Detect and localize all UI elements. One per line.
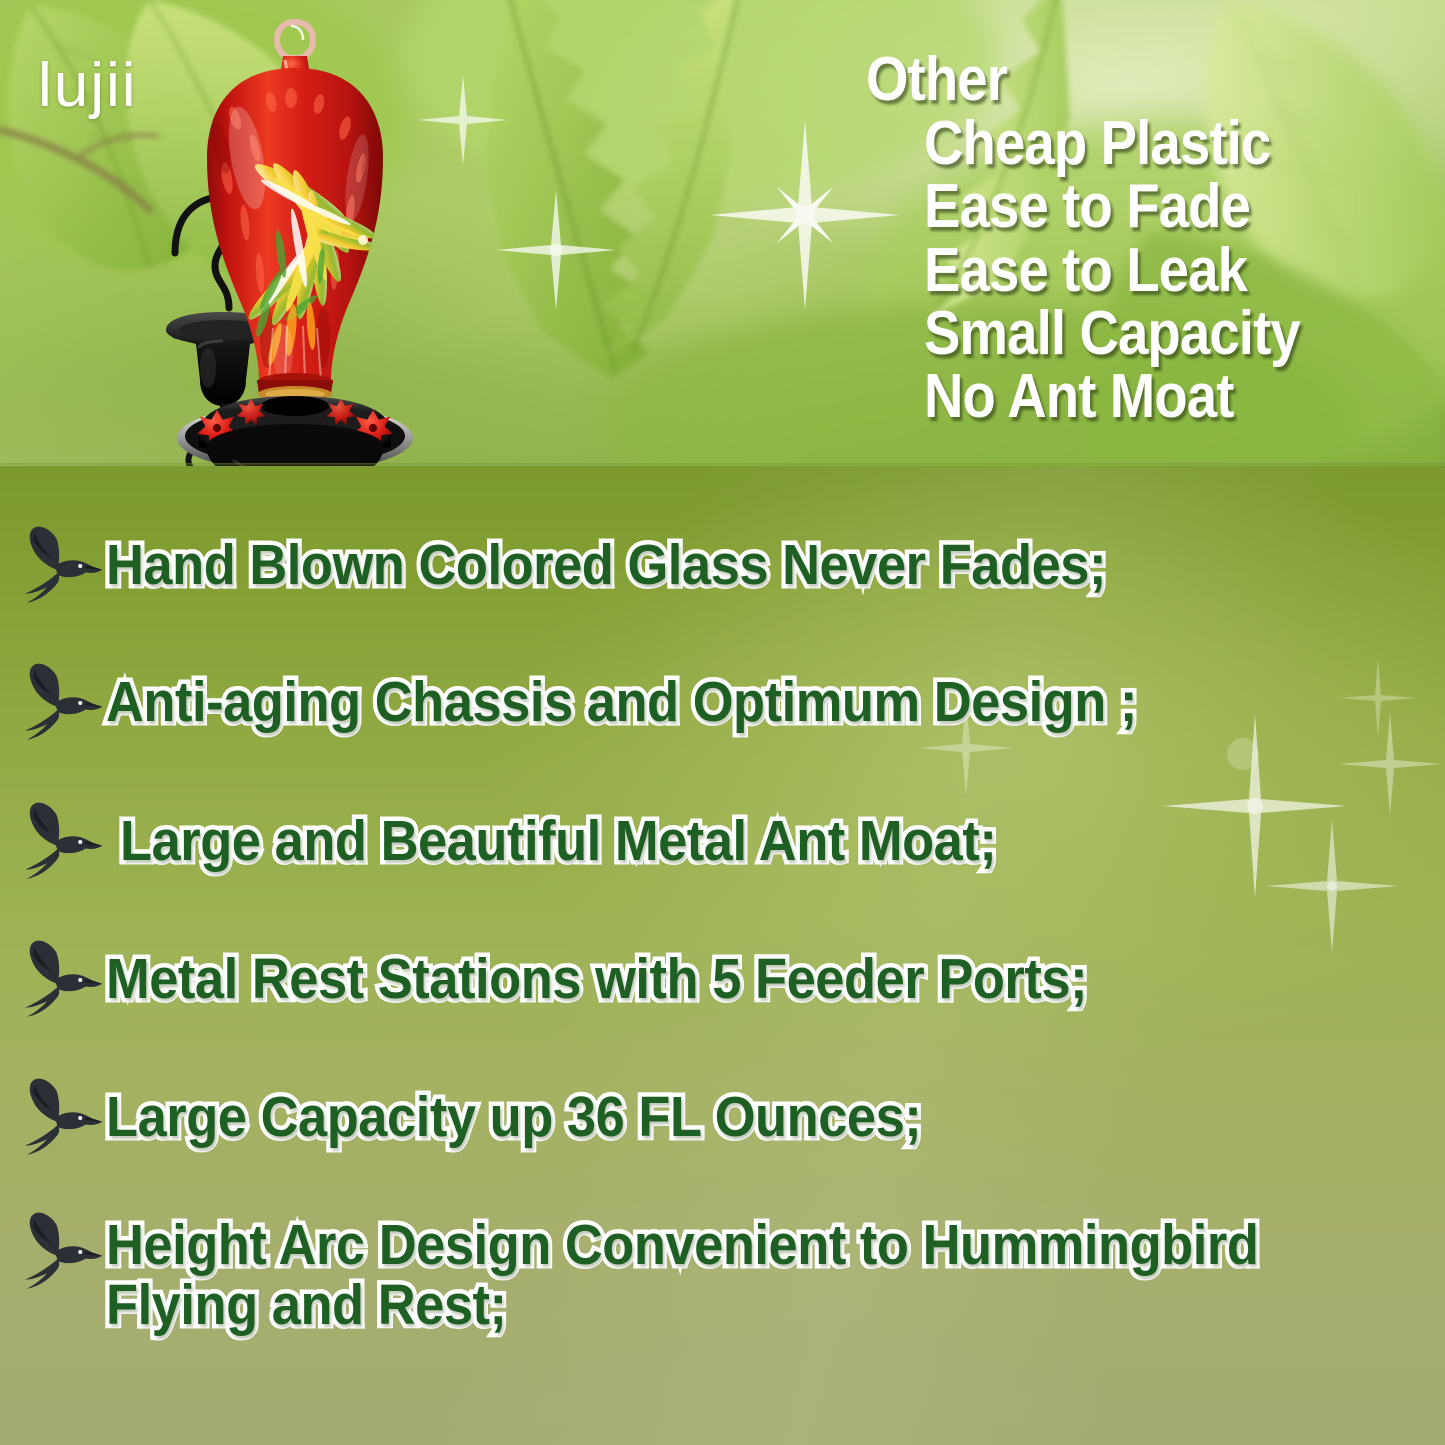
hummingbird-icon <box>14 932 106 1028</box>
competitor-drawback-list: Cheap Plastic Ease to Fade Ease to Leak … <box>866 112 1426 428</box>
feature-text: Metal Rest Stations with 5 Feeder Ports; <box>106 928 1087 1008</box>
feeder-base <box>177 396 413 466</box>
feature-item: Metal Rest Stations with 5 Feeder Ports; <box>14 928 1434 1028</box>
hummingbird-icon <box>14 518 106 614</box>
feature-text-line2: Flying and Rest; <box>106 1274 1258 1334</box>
hummingbird-icon <box>14 1204 106 1300</box>
feature-item: Hand Blown Colored Glass Never Fades; <box>14 514 1434 614</box>
feature-item: Large Capacity up 36 FL Ounces; <box>14 1066 1434 1166</box>
feature-list: Hand Blown Colored Glass Never Fades; An… <box>0 500 1445 1400</box>
band-divider <box>0 463 1445 467</box>
feature-item: Large and Beautiful Metal Ant Moat; <box>14 790 1434 890</box>
hummingbird-icon <box>14 655 106 751</box>
feature-text: Anti-aging Chassis and Optimum Design ; <box>106 651 1137 731</box>
product-feature-poster: lujii <box>0 0 1445 1445</box>
competitor-heading: Other <box>866 50 1359 110</box>
feature-text: Hand Blown Colored Glass Never Fades; <box>106 514 1106 594</box>
competitor-drawback-item: Ease to Leak <box>924 239 1366 302</box>
feature-text: Large and Beautiful Metal Ant Moat; <box>120 790 996 870</box>
feature-text: Large Capacity up 36 FL Ounces; <box>106 1066 921 1146</box>
competitor-drawback-item: No Ant Moat <box>924 365 1366 428</box>
competitor-drawback-item: Cheap Plastic <box>924 112 1366 175</box>
competitor-drawback-item: Ease to Fade <box>924 175 1366 238</box>
competitor-drawback-item: Small Capacity <box>924 302 1366 365</box>
glass-hanger-loop <box>277 22 313 58</box>
competitor-comparison-block: Other Cheap Plastic Ease to Fade Ease to… <box>866 50 1426 428</box>
hummingbird-icon <box>14 1070 106 1166</box>
product-image-hummingbird-feeder <box>95 8 495 466</box>
hero-photo-band: lujii <box>0 0 1445 466</box>
feature-text: Height Arc Design Convenient to Hummingb… <box>106 1200 1258 1274</box>
hummingbird-icon <box>14 794 106 890</box>
feature-item: Anti-aging Chassis and Optimum Design ; <box>14 651 1434 751</box>
feature-item: Height Arc Design Convenient to Hummingb… <box>14 1200 1434 1334</box>
